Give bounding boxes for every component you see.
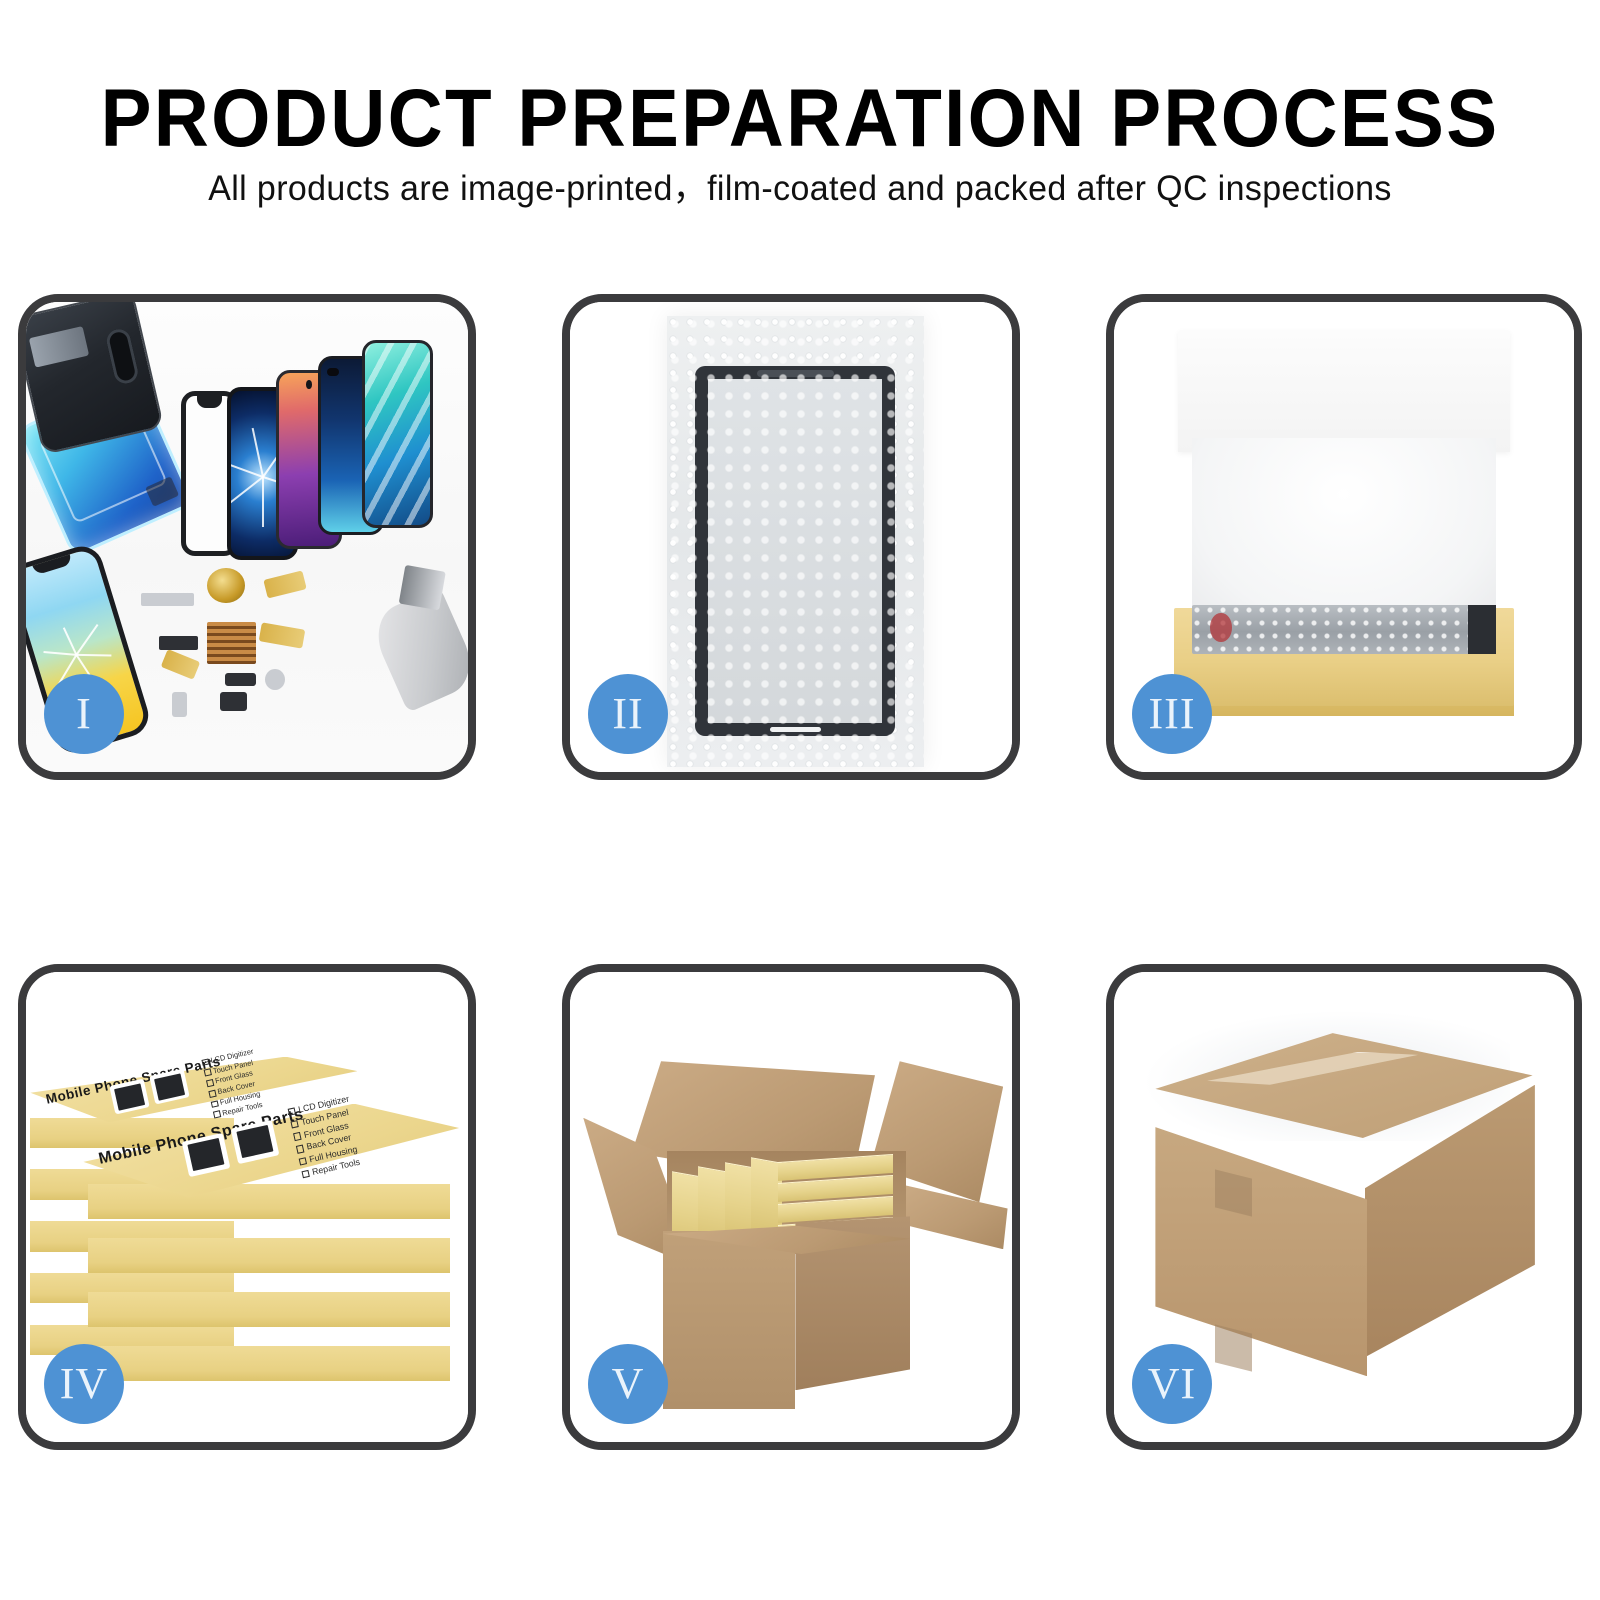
page-subtitle: All products are image-printed，film-coat…: [24, 168, 1576, 210]
small-component-icon: [225, 673, 256, 685]
home-button-icon: [768, 725, 824, 734]
step-badge-5: V: [588, 1344, 668, 1424]
wireless-coil-icon: [207, 568, 245, 603]
camera-module-icon: [265, 669, 285, 691]
bubble-wrap-sheet: [667, 316, 923, 767]
wrapped-screen-icon: [1192, 605, 1496, 654]
phone-screen-icon: [695, 366, 895, 736]
carton-front-face: [1155, 1127, 1367, 1376]
step-badge-6: VI: [1132, 1344, 1212, 1424]
panel-step-4: Mobile Phone Spare Parts LCD Digitizer T…: [18, 964, 476, 1450]
panel-step-2: II: [562, 294, 1020, 780]
page-title: PRODUCT PREPARATION PROCESS: [56, 78, 1544, 160]
cleaning-brush-icon: [366, 586, 468, 713]
sim-tray-icon: [172, 692, 187, 716]
panel-step-6: VI: [1106, 964, 1582, 1450]
small-component-icon: [159, 636, 199, 650]
retail-box: [88, 1292, 450, 1327]
foam-padding-icon: [1192, 438, 1496, 626]
retail-box: [88, 1238, 450, 1273]
flex-cable-icon: [161, 649, 201, 680]
speaker-icon: [220, 692, 247, 711]
step-badge-3: III: [1132, 674, 1212, 754]
teal-gradient-display-icon: [362, 340, 433, 528]
step-badge-1: I: [44, 674, 124, 754]
bga-chip-icon: [207, 622, 256, 664]
tape-tab-lower-icon: [1215, 1325, 1252, 1372]
retail-box: [88, 1346, 450, 1381]
step-badge-2: II: [588, 674, 668, 754]
carton-side-front: [663, 1231, 796, 1410]
flex-cable-icon: [259, 623, 306, 649]
panel-step-1: I: [18, 294, 476, 780]
flex-cable-icon: [263, 570, 306, 598]
box-label-checklist: LCD Digitizer Touch Panel Front Glass Ba…: [201, 1046, 266, 1120]
retail-box: [88, 1184, 450, 1219]
panel-step-5: V: [562, 964, 1020, 1450]
small-component-icon: [141, 593, 194, 605]
panel-step-3: III: [1106, 294, 1582, 780]
infographic-root: PRODUCT PREPARATION PROCESS All products…: [0, 0, 1600, 1600]
header: PRODUCT PREPARATION PROCESS All products…: [0, 0, 1600, 250]
step-badge-4: IV: [44, 1344, 124, 1424]
carton-flap-front-right: [897, 1184, 1008, 1250]
box-lid-icon: [1178, 330, 1509, 452]
